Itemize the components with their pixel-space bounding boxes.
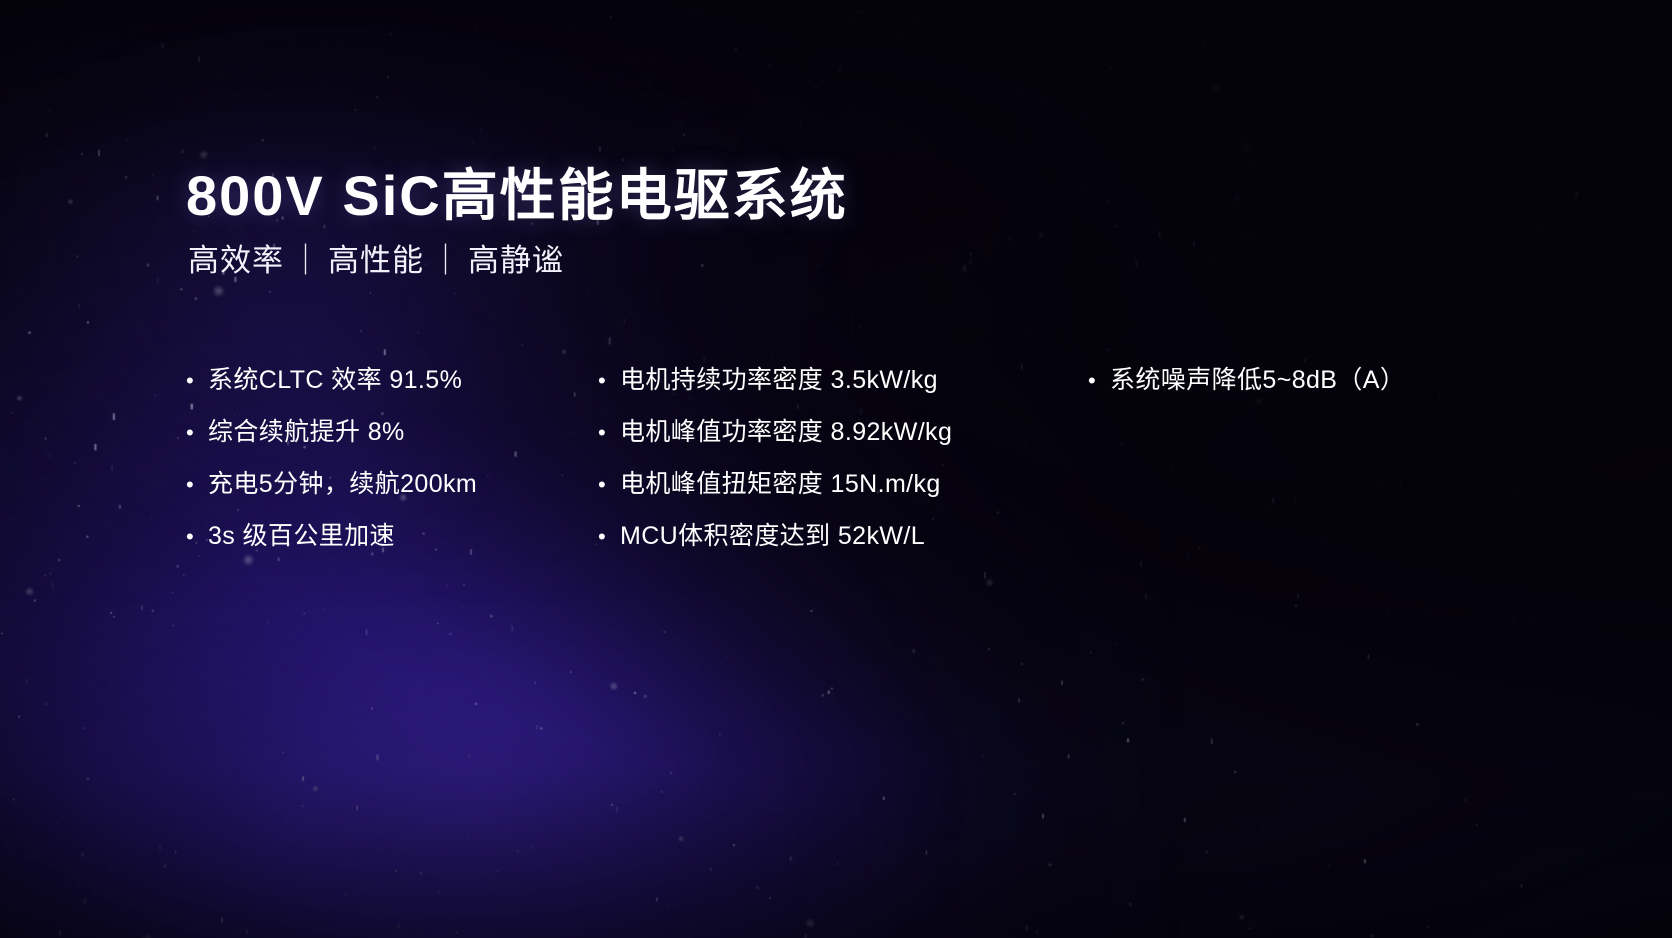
subtitle-separator-2: ｜ bbox=[424, 242, 468, 279]
slide-subtitle: 高效率｜高性能｜高静谧 bbox=[188, 242, 848, 279]
spec-columns: • 系统CLTC 效率 91.5% • 综合续航提升 8% • 充电5分钟，续航… bbox=[186, 364, 1486, 553]
list-item-label: 充电5分钟，续航200km bbox=[208, 468, 598, 501]
subtitle-text-3: 高静谧 bbox=[468, 243, 564, 278]
page-title: 800V SiC高性能电驱系统 bbox=[186, 166, 848, 226]
list-item-label: 系统CLTC 效率 91.5% bbox=[208, 364, 598, 397]
list-item-label: 综合续航提升 8% bbox=[208, 416, 598, 449]
list-item-label: MCU体积密度达到 52kW/L bbox=[620, 520, 1088, 553]
list-item: • 系统噪声降低5~8dB（A） bbox=[1088, 364, 1488, 397]
bullet-dot-icon: • bbox=[186, 520, 208, 553]
bullet-dot-icon: • bbox=[186, 468, 208, 501]
list-item: • 3s 级百公里加速 bbox=[186, 520, 598, 553]
list-item: • 电机峰值功率密度 8.92kW/kg bbox=[598, 416, 1088, 449]
list-item-label: 电机峰值功率密度 8.92kW/kg bbox=[620, 416, 1088, 449]
bullet-dot-icon: • bbox=[598, 468, 620, 501]
bullet-list-1: • 系统CLTC 效率 91.5% • 综合续航提升 8% • 充电5分钟，续航… bbox=[186, 364, 598, 553]
subtitle-separator-1: ｜ bbox=[284, 242, 328, 279]
spec-column-motor-and-mcu: • 电机持续功率密度 3.5kW/kg • 电机峰值功率密度 8.92kW/kg… bbox=[598, 364, 1088, 553]
bullet-list-3: • 系统噪声降低5~8dB（A） bbox=[1088, 364, 1488, 397]
bullet-dot-icon: • bbox=[598, 416, 620, 449]
list-item-label: 3s 级百公里加速 bbox=[208, 520, 598, 553]
list-item: • 充电5分钟，续航200km bbox=[186, 468, 598, 501]
bullet-dot-icon: • bbox=[186, 416, 208, 449]
title-block: 800V SiC高性能电驱系统 高效率｜高性能｜高静谧 bbox=[186, 166, 848, 280]
subtitle-text-2: 高性能 bbox=[328, 243, 424, 278]
bullet-list-2: • 电机持续功率密度 3.5kW/kg • 电机峰值功率密度 8.92kW/kg… bbox=[598, 364, 1088, 553]
list-item-label: 系统噪声降低5~8dB（A） bbox=[1110, 364, 1488, 397]
bullet-dot-icon: • bbox=[598, 364, 620, 397]
list-item: • 电机持续功率密度 3.5kW/kg bbox=[598, 364, 1088, 397]
subtitle-text-1: 高效率 bbox=[188, 243, 284, 278]
spec-column-system-efficiency: • 系统CLTC 效率 91.5% • 综合续航提升 8% • 充电5分钟，续航… bbox=[186, 364, 598, 553]
presentation-slide: 800V SiC高性能电驱系统 高效率｜高性能｜高静谧 • 系统CLTC 效率 … bbox=[0, 0, 1672, 938]
list-item: • 综合续航提升 8% bbox=[186, 416, 598, 449]
list-item: • MCU体积密度达到 52kW/L bbox=[598, 520, 1088, 553]
bullet-dot-icon: • bbox=[1088, 364, 1110, 397]
list-item: • 系统CLTC 效率 91.5% bbox=[186, 364, 598, 397]
spec-column-noise: • 系统噪声降低5~8dB（A） bbox=[1088, 364, 1488, 397]
bullet-dot-icon: • bbox=[186, 364, 208, 397]
list-item-label: 电机持续功率密度 3.5kW/kg bbox=[620, 364, 1088, 397]
list-item: • 电机峰值扭矩密度 15N.m/kg bbox=[598, 468, 1088, 501]
slide-content: 800V SiC高性能电驱系统 高效率｜高性能｜高静谧 • 系统CLTC 效率 … bbox=[0, 0, 1672, 938]
list-item-label: 电机峰值扭矩密度 15N.m/kg bbox=[620, 468, 1088, 501]
bullet-dot-icon: • bbox=[598, 520, 620, 553]
